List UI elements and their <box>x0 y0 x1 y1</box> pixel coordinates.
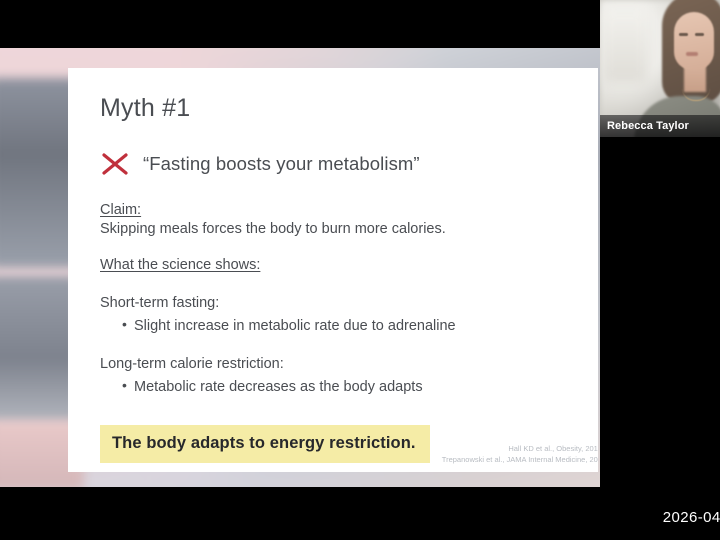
science-label-block: What the science shows: <box>100 256 598 274</box>
section-long-term: Long-term calorie restriction: Metabolic… <box>100 353 598 399</box>
myth-statement-text: “Fasting boosts your metabolism” <box>143 153 420 175</box>
section-short-term: Short-term fasting: Slight increase in m… <box>100 292 598 338</box>
slide-content: Myth #1 “Fasting boosts your metabolism”… <box>68 68 598 472</box>
citation-item: Trepanowski et al., JAMA Internal Medici… <box>442 454 598 466</box>
list-item: Metabolic rate decreases as the body ada… <box>122 376 598 398</box>
participant-mouth <box>686 52 698 56</box>
section-heading: Short-term fasting: <box>100 292 598 314</box>
video-call-screen: Myth #1 “Fasting boosts your metabolism”… <box>0 0 720 540</box>
webcam-window-light <box>602 8 648 84</box>
backdrop-crate-middle <box>0 276 78 426</box>
science-label: What the science shows: <box>100 257 260 273</box>
myth-statement-row: “Fasting boosts your metabolism” <box>100 149 598 179</box>
takeaway-highlight: The body adapts to energy restriction. <box>100 425 430 463</box>
participant-name-label: Rebecca Taylor <box>600 115 720 137</box>
participant-eye-left <box>679 33 688 36</box>
slide-title: Myth #1 <box>100 94 598 123</box>
claim-text: Skipping meals forces the body to burn m… <box>100 219 598 241</box>
participant-video-tile[interactable]: Rebecca Taylor <box>600 0 720 137</box>
citation-list: Hall KD et al., Obesity, 2016 Trepanowsk… <box>442 443 598 466</box>
section-bullet-list: Slight increase in metabolic rate due to… <box>100 315 598 337</box>
section-bullet-list: Metabolic rate decreases as the body ada… <box>100 376 598 398</box>
letterbox-right-bar <box>600 137 720 487</box>
list-item: Slight increase in metabolic rate due to… <box>122 315 598 337</box>
presentation-slide: Myth #1 “Fasting boosts your metabolism”… <box>68 68 598 472</box>
section-heading: Long-term calorie restriction: <box>100 353 598 375</box>
claim-block: Claim: Skipping meals forces the body to… <box>100 201 598 241</box>
letterbox-bottom-bar <box>0 487 720 540</box>
red-x-icon <box>100 149 130 179</box>
citation-item: Hall KD et al., Obesity, 2016 <box>442 443 598 455</box>
participant-face <box>674 12 714 70</box>
participant-eye-right <box>695 33 704 36</box>
recording-timestamp: 2026-04- <box>663 509 720 526</box>
claim-label: Claim: <box>100 202 141 218</box>
